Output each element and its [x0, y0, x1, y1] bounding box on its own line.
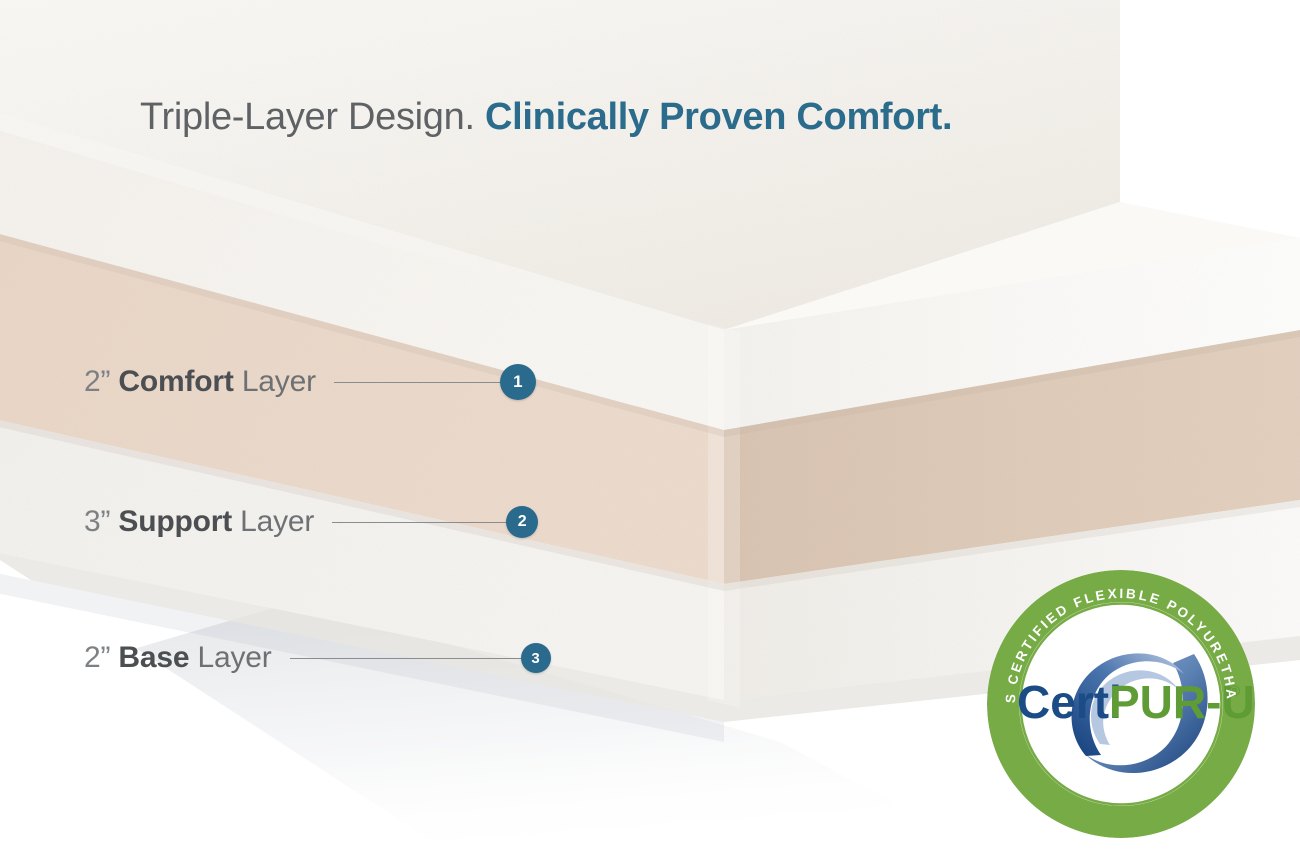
certipur-us-seal[interactable]: Certi PUR-US ® CONTAINS CERTIFIED FLEXIB… — [985, 568, 1257, 840]
headline-plain-text: Triple-Layer Design. — [140, 96, 475, 138]
callout-label-comfort: 2” Comfort Layer — [84, 365, 316, 399]
seal-wordmark: Certi PUR-US ® — [1017, 676, 1257, 728]
page-title: Triple-Layer Design. Clinically Proven C… — [140, 96, 952, 140]
callout-suffix-support: Layer — [240, 505, 314, 538]
leader-line-base — [290, 658, 523, 659]
seal-wordmark-certi: Certi — [1017, 676, 1122, 728]
leader-line-support — [332, 522, 508, 523]
callout-thickness-comfort: 2” — [84, 365, 110, 398]
callout-badge-1[interactable]: 1 — [500, 364, 536, 400]
callout-label-support: 3” Support Layer — [84, 505, 314, 539]
callout-badge-2[interactable]: 2 — [506, 506, 538, 538]
callout-name-base: Base — [118, 641, 189, 674]
callout-label-base: 2” Base Layer — [84, 641, 272, 675]
callout-name-support: Support — [118, 505, 232, 538]
callout-comfort-layer: 2” Comfort Layer 1 — [84, 362, 536, 402]
callout-suffix-comfort: Layer — [242, 365, 316, 398]
leader-line-comfort — [334, 382, 502, 383]
callout-support-layer: 3” Support Layer 2 — [84, 502, 538, 542]
callout-base-layer: 2” Base Layer 3 — [84, 638, 551, 678]
headline-accent-text: Clinically Proven Comfort. — [485, 96, 952, 138]
callout-thickness-support: 3” — [84, 505, 110, 538]
product-infographic: Triple-Layer Design. Clinically Proven C… — [0, 0, 1300, 866]
callout-suffix-base: Layer — [197, 641, 271, 674]
callout-badge-3[interactable]: 3 — [521, 643, 551, 673]
mattress-corner-highlight — [708, 324, 740, 708]
callout-name-comfort: Comfort — [118, 365, 233, 398]
callout-thickness-base: 2” — [84, 641, 110, 674]
